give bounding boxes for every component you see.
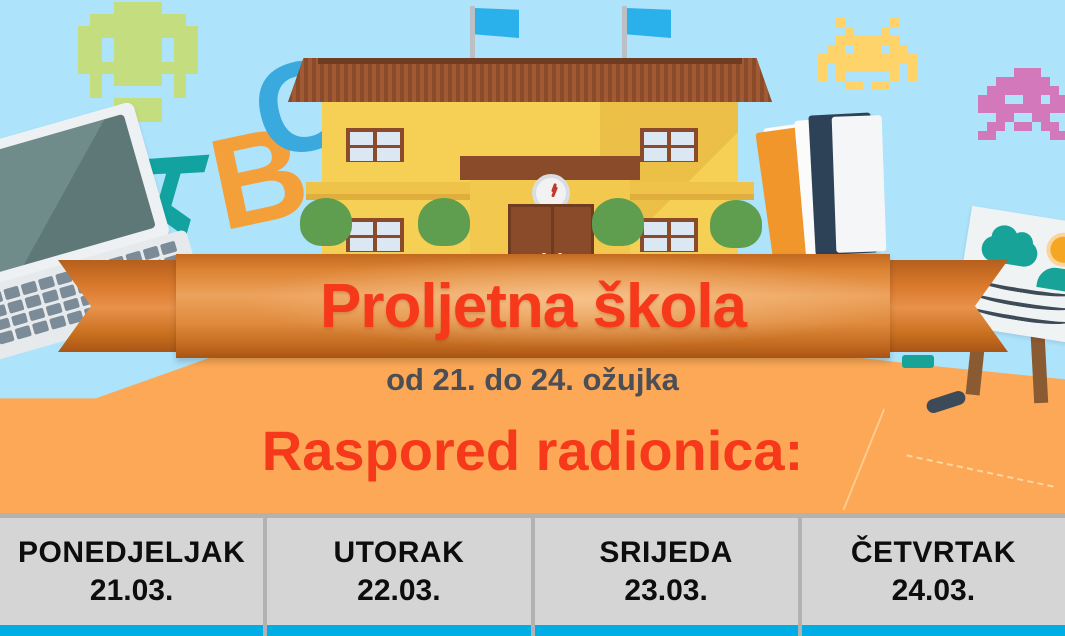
schedule-table-header-row: PONEDJELJAK 21.03. UTORAK 22.03. SRIJEDA…: [0, 513, 1065, 636]
school-roof-ridge: [318, 58, 742, 64]
school-building-icon: [300, 58, 760, 268]
day-name: PONEDJELJAK: [18, 536, 245, 570]
table-column-header[interactable]: UTORAK 22.03.: [267, 518, 530, 625]
flag-icon-left: [475, 8, 519, 38]
bush-decoration: [418, 198, 470, 246]
school-roof: [288, 58, 772, 102]
table-cell[interactable]: [535, 625, 798, 636]
schedule-table-blue-row: [0, 625, 1065, 636]
table-cell[interactable]: [0, 625, 263, 636]
table-column-header[interactable]: PONEDJELJAK 21.03.: [0, 518, 263, 625]
pixel-sprite-pink-icon: [978, 68, 1065, 140]
school-window: [346, 128, 404, 162]
day-date: 23.03.: [624, 574, 707, 608]
day-name: SRIJEDA: [599, 536, 733, 570]
title-ribbon: Proljetna škola: [58, 254, 1008, 366]
bush-decoration: [592, 198, 644, 246]
day-date: 21.03.: [90, 574, 173, 608]
day-date: 24.03.: [892, 574, 975, 608]
schedule-heading: Raspored radionica:: [0, 418, 1065, 483]
ribbon-band: Proljetna škola: [176, 254, 890, 358]
poster-canvas: A B C: [0, 0, 1065, 636]
day-date: 22.03.: [357, 574, 440, 608]
school-window: [640, 128, 698, 162]
bush-decoration: [710, 200, 762, 248]
pixel-sprite-yellow-icon: [818, 18, 917, 90]
table-cell[interactable]: [802, 625, 1065, 636]
day-name: ČETVRTAK: [851, 536, 1016, 570]
page-title: Proljetna škola: [176, 254, 890, 358]
table-column-header[interactable]: SRIJEDA 23.03.: [535, 518, 798, 625]
table-column-header[interactable]: ČETVRTAK 24.03.: [802, 518, 1065, 625]
date-range-subtitle: od 21. do 24. ožujka: [0, 362, 1065, 398]
school-window: [346, 218, 404, 252]
day-name: UTORAK: [333, 536, 464, 570]
flag-icon-right: [627, 8, 671, 38]
school-window: [640, 218, 698, 252]
sun-icon: [1049, 235, 1065, 265]
bush-decoration: [300, 198, 352, 246]
table-cell[interactable]: [267, 625, 530, 636]
